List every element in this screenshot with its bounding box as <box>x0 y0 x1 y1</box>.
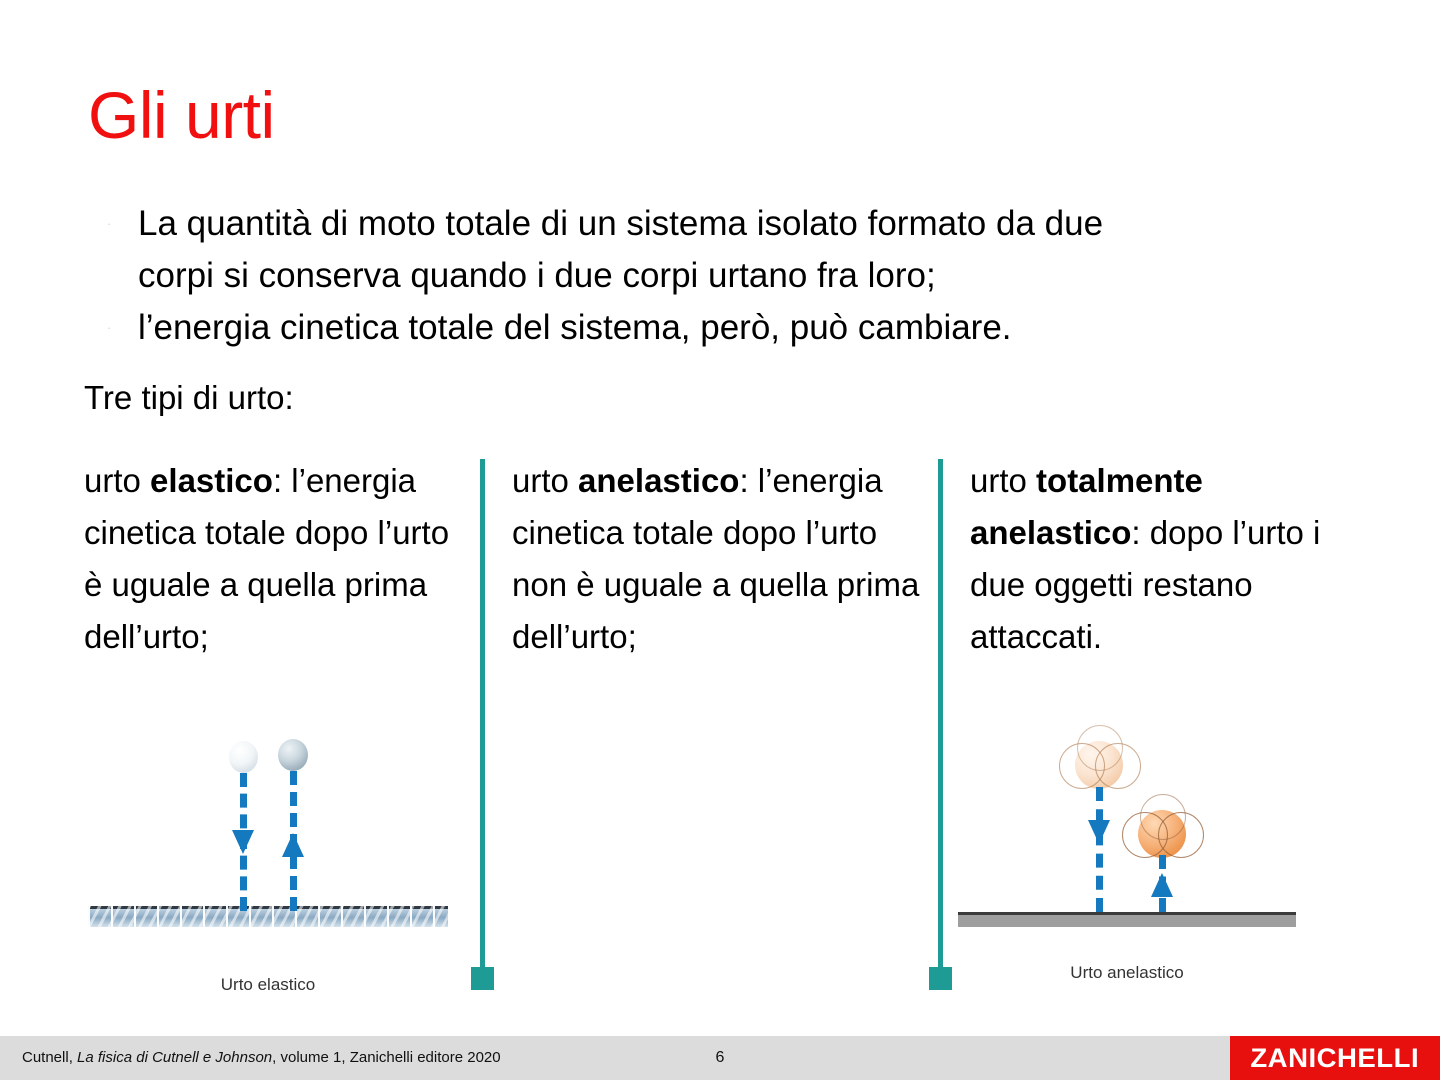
column-elastico-heading-plain: urto <box>84 462 150 499</box>
ball-white-falling <box>229 741 258 773</box>
column-divider-2 <box>938 459 943 969</box>
column-totalmente-anelastico: urto totalmente anelastico: dopo l’urto … <box>970 455 1370 995</box>
arrow-down-icon <box>232 830 254 854</box>
zanichelli-logo-text: ZANICHELLI <box>1251 1043 1420 1074</box>
column-anelastico: urto anelastico: l’energia cinetica tota… <box>512 455 932 995</box>
column-anelastico-heading-bold: anelastico <box>578 462 739 499</box>
bullet-dot-icon: · <box>80 198 138 250</box>
intro-paragraph: · La quantità di moto totale di un siste… <box>80 198 1380 354</box>
collision-types-columns: urto elastico: l’energia cinetica totale… <box>80 455 1380 995</box>
column-anelastico-text: urto anelastico: l’energia cinetica tota… <box>512 455 932 663</box>
intro-line: · l’energia cinetica totale del sistema,… <box>80 302 1380 354</box>
figure-elastic-collision: Urto elastico <box>88 735 448 995</box>
column-elastico-text: urto elastico: l’energia cinetica totale… <box>84 455 474 663</box>
footer-bar: Cutnell, La fisica di Cutnell e Johnson,… <box>0 1035 1440 1080</box>
intro-line: · La quantità di moto totale di un siste… <box>80 198 1380 250</box>
column-divider-1 <box>480 459 485 969</box>
figure-elastic-canvas <box>88 735 448 955</box>
intro-line-text: l’energia cinetica totale del sistema, p… <box>138 302 1012 354</box>
figure-elastic-caption: Urto elastico <box>88 975 448 995</box>
intro-line-text: La quantità di moto totale di un sistema… <box>138 198 1103 250</box>
zanichelli-logo: ZANICHELLI <box>1230 1036 1440 1080</box>
tiled-ground-surface <box>88 906 448 927</box>
bullet-dot-icon: · <box>80 302 138 354</box>
lead-in-text: Tre tipi di urto: <box>84 378 294 418</box>
intro-line: corpi si conserva quando i due corpi urt… <box>80 250 1380 302</box>
ball-gray-rebounding <box>278 739 308 771</box>
arrow-up-icon <box>282 833 304 857</box>
column-elastico-heading-bold: elastico <box>150 462 273 499</box>
column-elastico: urto elastico: l’energia cinetica totale… <box>84 455 474 995</box>
page-number: 6 <box>0 1049 1440 1067</box>
column-totalmente-anelastico-text: urto totalmente anelastico: dopo l’urto … <box>970 455 1370 663</box>
page-title: Gli urti <box>88 82 275 148</box>
column-totalmente-heading-plain: urto <box>970 462 1036 499</box>
intro-line-text: corpi si conserva quando i due corpi urt… <box>138 250 936 302</box>
column-anelastico-heading-plain: urto <box>512 462 578 499</box>
